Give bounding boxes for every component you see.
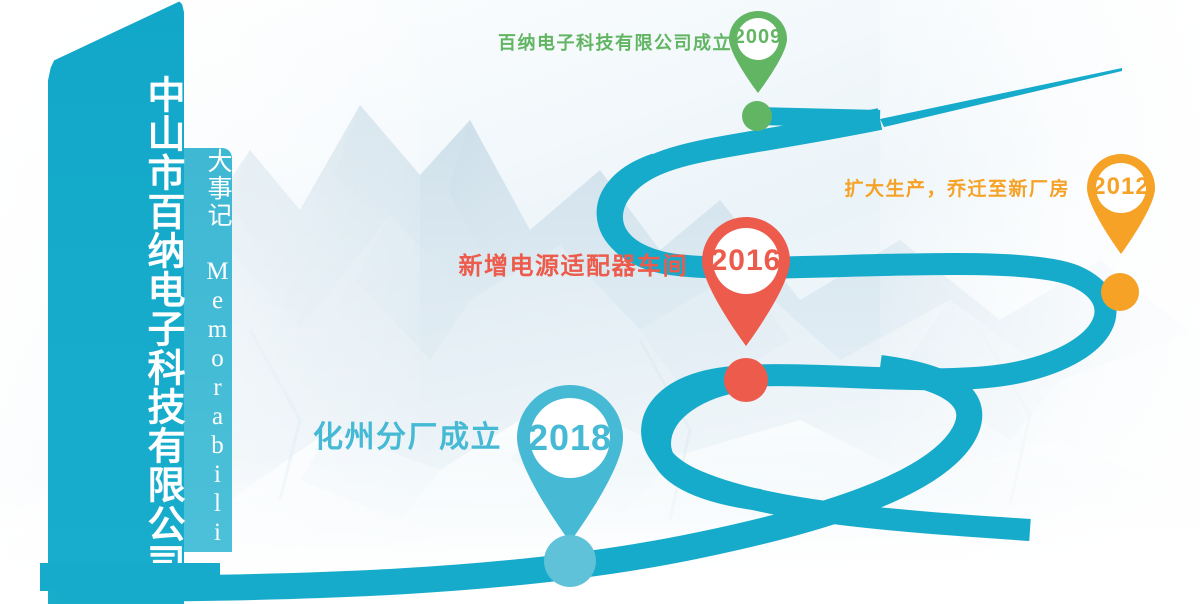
timeline-node-2016[interactable] (724, 358, 768, 402)
timeline-node-2018[interactable] (544, 535, 596, 587)
marker-label-2012: 扩大生产，乔迁至新厂房 (818, 174, 1070, 201)
map-pin-icon-2012[interactable] (1080, 148, 1162, 258)
marker-label-2018: 化州分厂成立 (280, 412, 502, 456)
timeline-node-2009[interactable] (742, 101, 772, 131)
timeline-infographic: 大事记 Memorabilia 中山市百纳电子科技有限公司 百纳电子科技有限公司… (0, 0, 1200, 604)
map-pin-icon-2016[interactable] (694, 210, 798, 350)
timeline-node-2012[interactable] (1101, 273, 1139, 311)
map-pin-icon-2018[interactable] (508, 376, 632, 546)
marker-label-2016: 新增电源适配器车间 (428, 246, 688, 281)
map-pin-icon-2009[interactable] (723, 5, 793, 95)
marker-label-2009: 百纳电子科技有限公司成立 (498, 29, 718, 55)
